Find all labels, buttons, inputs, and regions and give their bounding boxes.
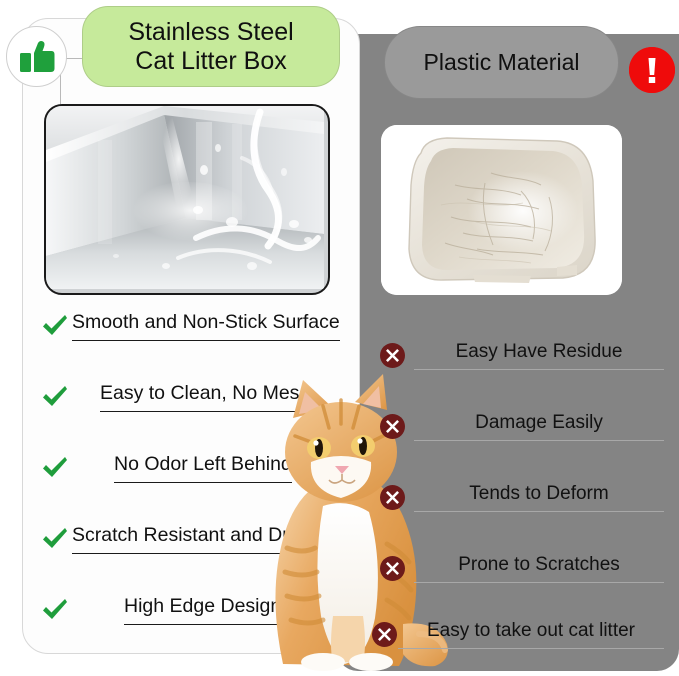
exclamation-icon xyxy=(629,47,675,93)
drawback-label: Easy Have Residue xyxy=(414,341,664,370)
red-x-icon xyxy=(371,622,398,647)
green-check-icon xyxy=(38,456,72,480)
thumbs-up-icon xyxy=(6,26,67,87)
drawback-label: Tends to Deform xyxy=(414,483,664,512)
drawback-row: Prone to Scratches xyxy=(371,554,664,583)
red-x-icon xyxy=(371,556,414,581)
title-line-1: Stainless Steel xyxy=(128,18,293,46)
red-x-icon xyxy=(371,343,414,368)
comparison-infographic: Stainless Steel Cat Litter Box Plastic M… xyxy=(0,0,679,671)
red-x-icon xyxy=(371,414,414,439)
plastic-product-image xyxy=(381,125,622,295)
drawback-row: Easy to take out cat litter xyxy=(371,620,664,649)
title-line-2: Cat Litter Box xyxy=(135,47,286,75)
drawback-row: Tends to Deform xyxy=(371,483,664,512)
feature-label: Smooth and Non-Stick Surface xyxy=(72,311,340,341)
drawback-row: Easy Have Residue xyxy=(371,341,664,370)
drawback-label: Easy to take out cat litter xyxy=(398,620,664,649)
red-x-icon xyxy=(371,485,414,510)
green-check-icon xyxy=(38,314,72,338)
green-check-icon xyxy=(38,598,72,622)
green-check-icon xyxy=(38,385,72,409)
stainless-steel-title: Stainless Steel Cat Litter Box xyxy=(82,6,340,87)
drawback-label: Damage Easily xyxy=(414,412,664,441)
feature-row: Smooth and Non-Stick Surface xyxy=(38,311,340,341)
drawback-label: Prone to Scratches xyxy=(414,554,664,583)
green-check-icon xyxy=(38,527,72,551)
drawback-row: Damage Easily xyxy=(371,412,664,441)
stainless-steel-product-image xyxy=(44,104,330,295)
plastic-title: Plastic Material xyxy=(384,26,619,99)
